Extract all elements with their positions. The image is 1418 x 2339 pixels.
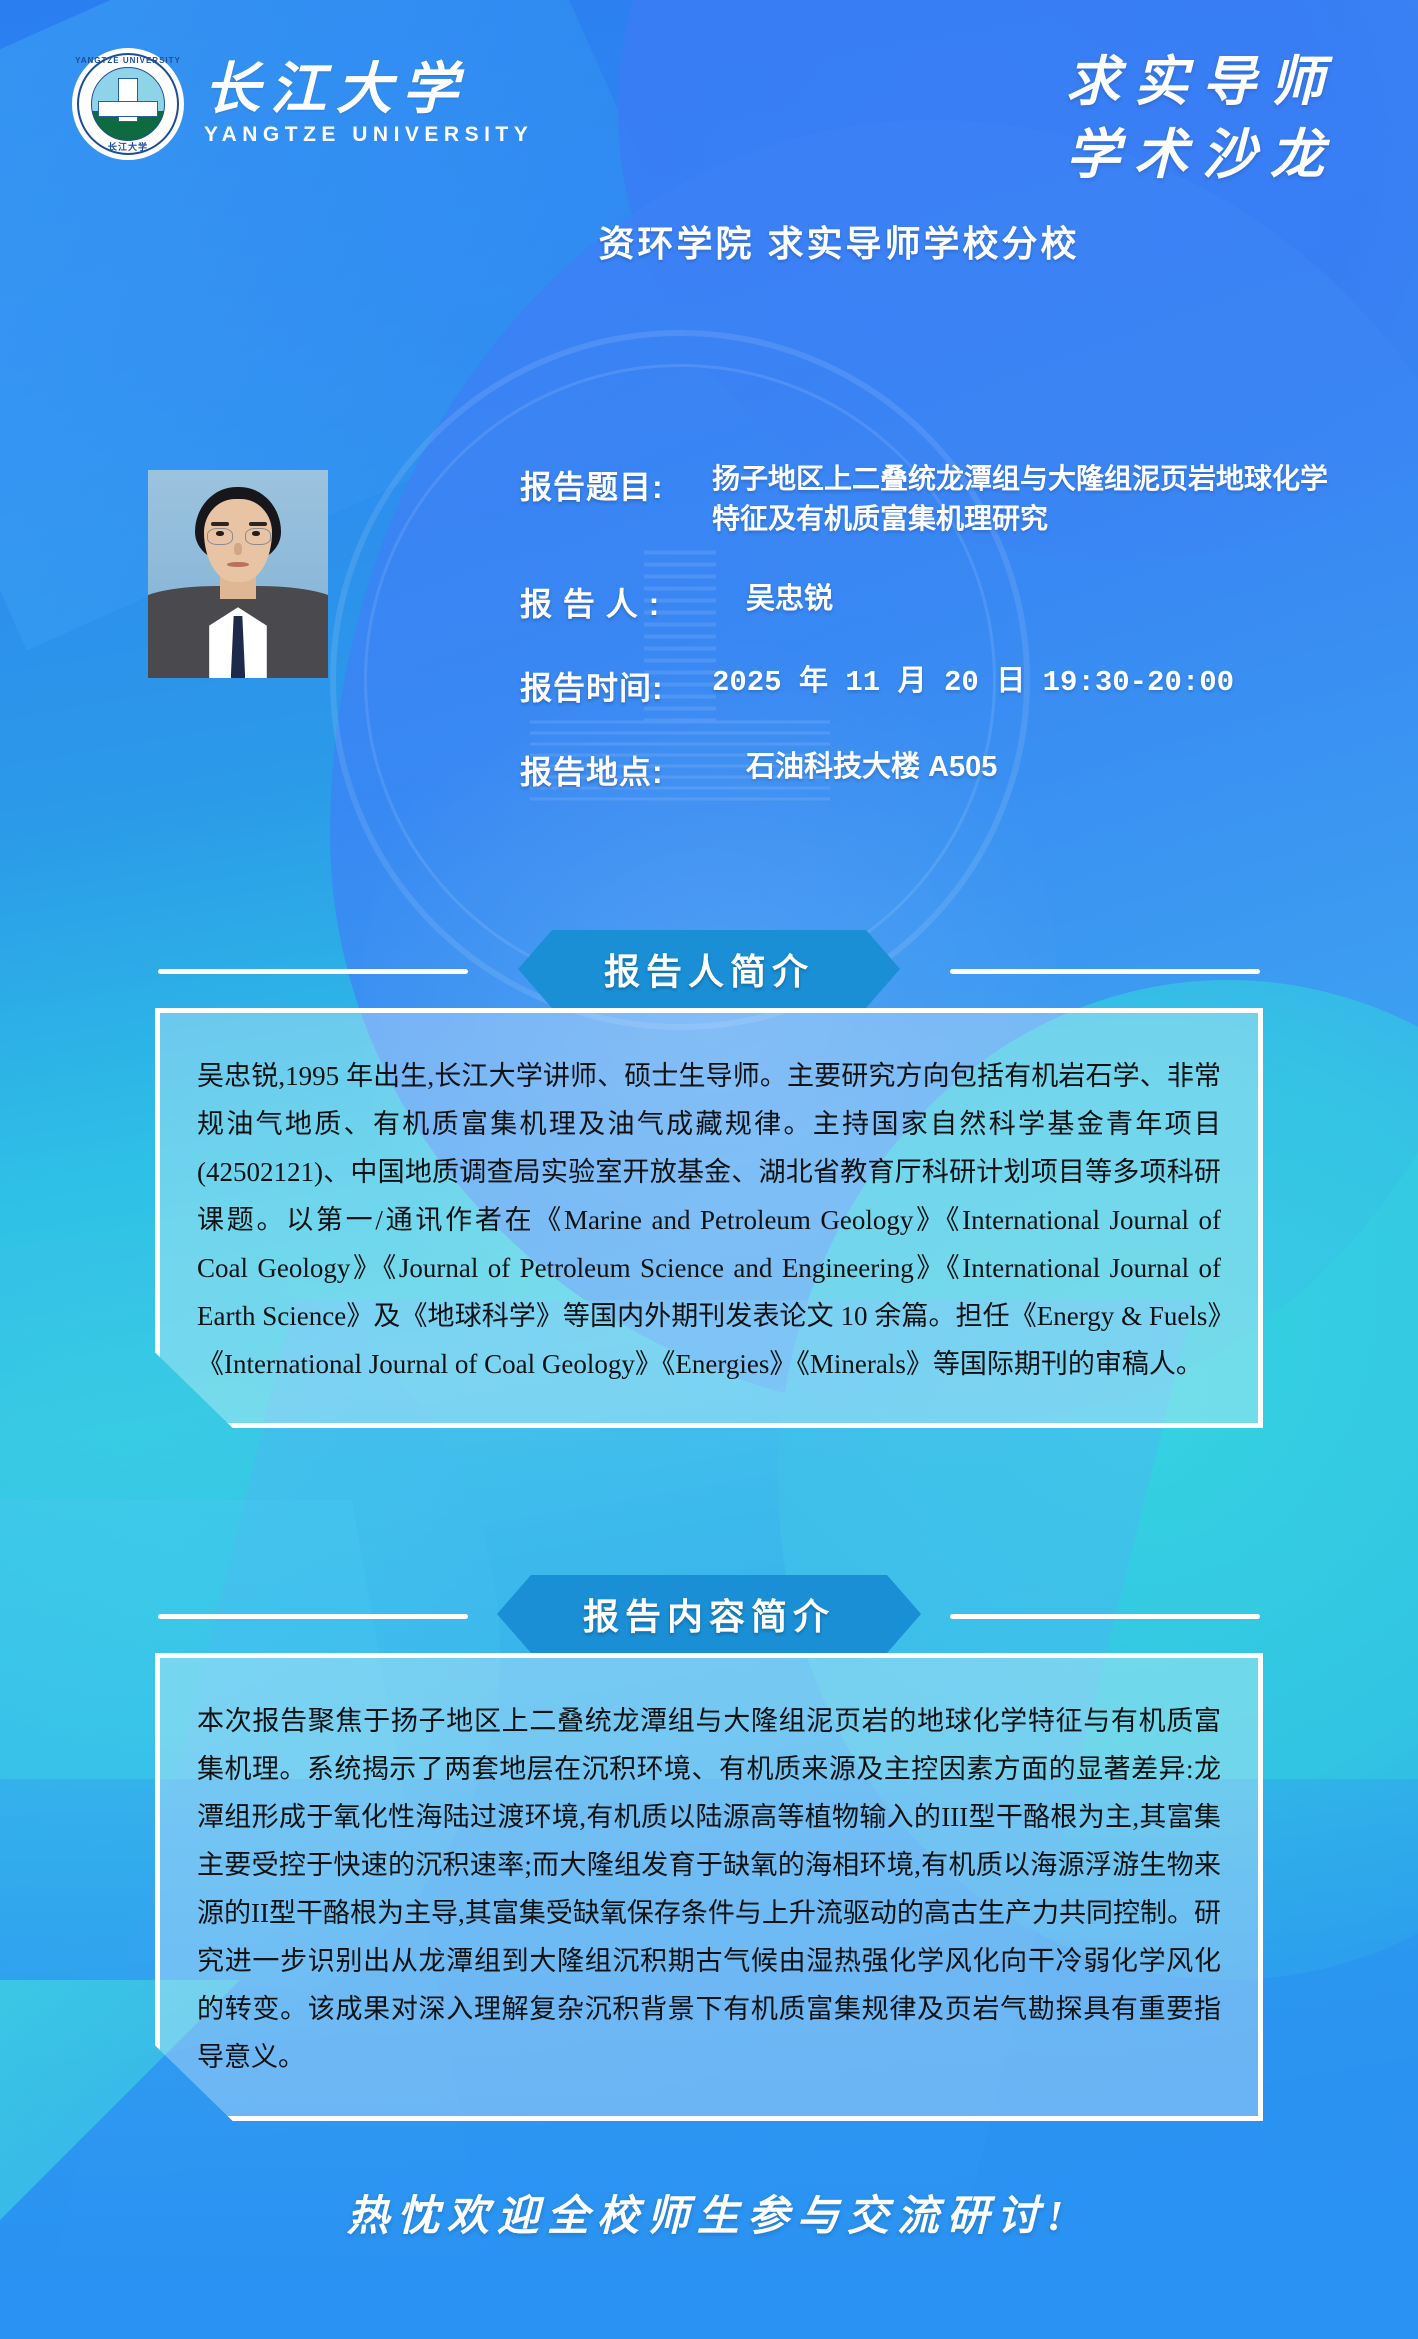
info-row-title: 报告题目: 扬子地区上二叠统龙潭组与大隆组泥页岩地球化学特征及有机质富集机理研究 <box>520 462 1340 539</box>
label-talk-title: 报告题目: <box>520 462 712 508</box>
crest-arc-top-text: YANGTZE UNIVERSITY <box>75 56 181 65</box>
university-name-en: YANGTZE UNIVERSITY <box>204 123 533 147</box>
value-place: 石油科技大楼 A505 <box>712 747 1340 787</box>
salon-title-line1: 求实导师 <box>1066 46 1338 119</box>
label-place: 报告地点: <box>520 747 712 793</box>
value-talk-title: 扬子地区上二叠统龙潭组与大隆组泥页岩地球化学特征及有机质富集机理研究 <box>712 459 1340 539</box>
speaker-bio-banner-wrap: 报告人简介 <box>0 930 1418 1008</box>
talk-abstract-section: 报告内容简介 本次报告聚焦于扬子地区上二叠统龙潭组与大隆组泥页岩的地球化学特征与… <box>0 1575 1418 2121</box>
banner-line-right <box>950 969 1260 974</box>
poster-root: YANGTZE UNIVERSITY 长江大学 长江大学 YANGTZE UNI… <box>0 0 1418 2339</box>
crest-arc-bottom-text: 长江大学 <box>75 140 181 153</box>
info-row-speaker: 报 告 人 : 吴忠锐 <box>520 579 1340 625</box>
value-time: 2025 年 11 月 20 日 19:30-20:00 <box>712 663 1340 703</box>
university-logo: YANGTZE UNIVERSITY 长江大学 长江大学 YANGTZE UNI… <box>72 48 533 160</box>
info-row-time: 报告时间: 2025 年 11 月 20 日 19:30-20:00 <box>520 663 1340 709</box>
talk-abstract-banner-wrap: 报告内容简介 <box>0 1575 1418 1653</box>
talk-info-block: 报告题目: 扬子地区上二叠统龙潭组与大隆组泥页岩地球化学特征及有机质富集机理研究… <box>520 462 1340 831</box>
salon-title: 求实导师 学术沙龙 <box>1066 46 1338 192</box>
salon-title-line2: 学术沙龙 <box>1066 119 1338 192</box>
label-speaker: 报 告 人 : <box>520 579 712 625</box>
value-speaker: 吴忠锐 <box>712 579 1340 619</box>
speaker-bio-text: 吴忠锐,1995 年出生,长江大学讲师、硕士生导师。主要研究方向包括有机岩石学、… <box>197 1052 1221 1388</box>
banner-line-left-2 <box>158 1614 468 1619</box>
speaker-bio-section: 报告人简介 吴忠锐,1995 年出生,长江大学讲师、硕士生导师。主要研究方向包括… <box>0 930 1418 1428</box>
university-name-block: 长江大学 YANGTZE UNIVERSITY <box>204 61 533 148</box>
label-time: 报告时间: <box>520 663 712 709</box>
poster-header: YANGTZE UNIVERSITY 长江大学 长江大学 YANGTZE UNI… <box>0 0 1418 200</box>
university-name-cn: 长江大学 <box>204 61 533 120</box>
speaker-bio-banner-label: 报告人简介 <box>518 930 900 1008</box>
university-crest-icon: YANGTZE UNIVERSITY 长江大学 <box>72 48 184 160</box>
banner-line-right-2 <box>950 1614 1260 1619</box>
page-subtitle: 资环学院 求实导师学校分校 <box>0 215 1418 267</box>
talk-abstract-text: 本次报告聚焦于扬子地区上二叠统龙潭组与大隆组泥页岩的地球化学特征与有机质富集机理… <box>197 1697 1221 2081</box>
speaker-photo <box>148 470 328 678</box>
info-row-place: 报告地点: 石油科技大楼 A505 <box>520 747 1340 793</box>
speaker-bio-box: 吴忠锐,1995 年出生,长江大学讲师、硕士生导师。主要研究方向包括有机岩石学、… <box>155 1008 1263 1428</box>
banner-line-left <box>158 969 468 974</box>
talk-abstract-banner-label: 报告内容简介 <box>497 1575 921 1653</box>
footer-welcome-text: 热忱欢迎全校师生参与交流研讨! <box>0 2182 1418 2243</box>
talk-abstract-box: 本次报告聚焦于扬子地区上二叠统龙潭组与大隆组泥页岩的地球化学特征与有机质富集机理… <box>155 1653 1263 2121</box>
